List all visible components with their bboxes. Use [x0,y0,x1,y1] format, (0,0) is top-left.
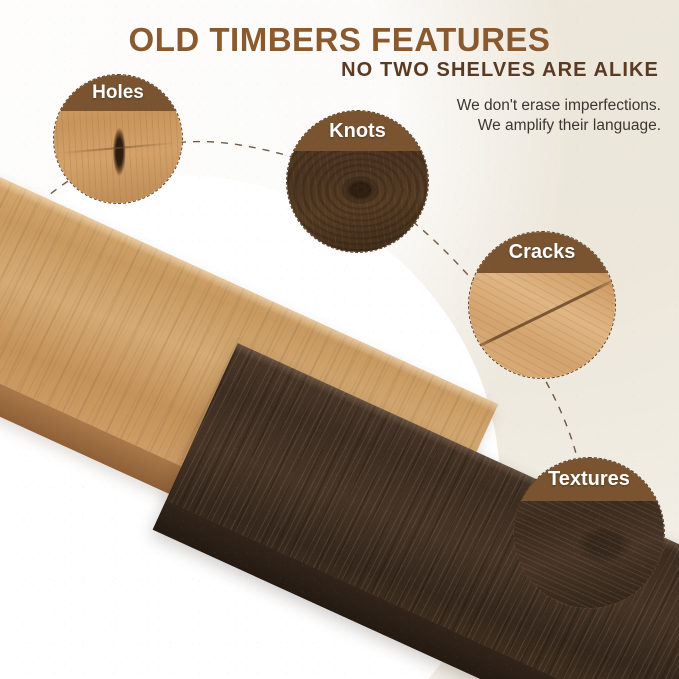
tagline-line-1: We don't erase imperfections. [457,96,661,116]
feature-label-knots: Knots [287,111,428,151]
tagline-line-2: We amplify their language. [457,116,661,136]
page-title: OLD TIMBERS FEATURES [0,21,679,59]
feature-bubble-holes: Holes [53,74,183,204]
tagline: We don't erase imperfections. We amplify… [457,96,661,136]
page-subtitle: NO TWO SHELVES ARE ALIKE [341,59,659,82]
feature-bubble-cracks: Cracks [468,231,616,379]
feature-label-holes: Holes [54,75,182,111]
feature-label-cracks: Cracks [469,232,615,273]
feature-bubble-knots: Knots [286,110,429,253]
product-infographic: OLD TIMBERS FEATURES NO TWO SHELVES ARE … [0,0,679,679]
feature-bubble-textures: Textures [513,457,665,609]
feature-label-textures: Textures [514,458,664,501]
